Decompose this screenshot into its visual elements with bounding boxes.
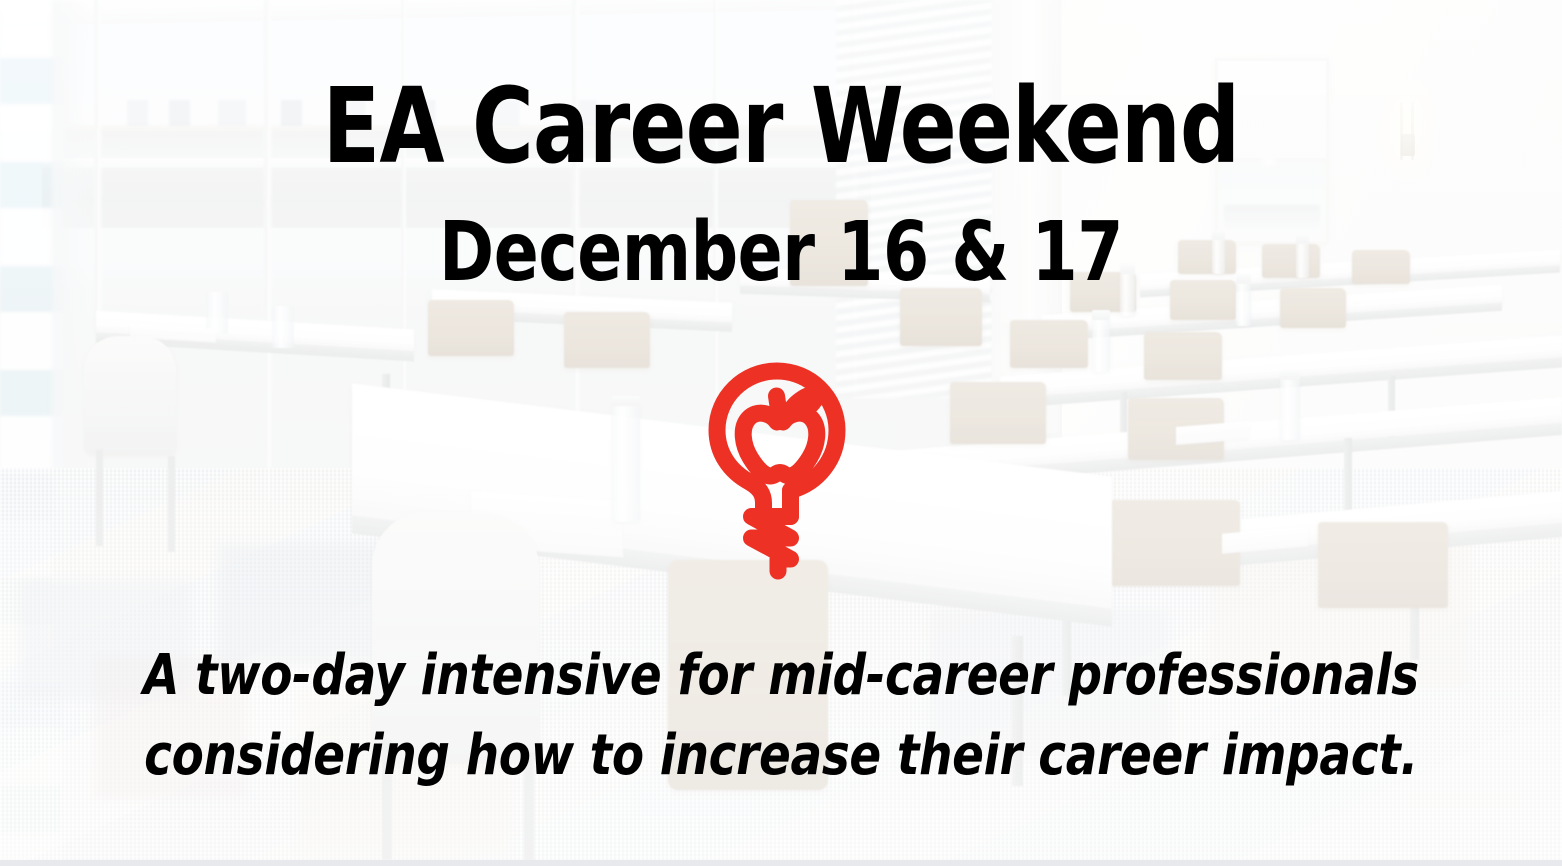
page-title: EA Career Weekend: [78, 74, 1484, 178]
event-dates: December 16 & 17: [78, 212, 1484, 294]
poster: EA Career Weekend December 16 & 17: [0, 0, 1562, 866]
tagline-line-2: considering how to increase their career…: [55, 716, 1508, 796]
poster-content: EA Career Weekend December 16 & 17: [0, 0, 1562, 866]
tagline: A two-day intensive for mid-career profe…: [55, 636, 1508, 795]
lightbulb-apple-icon: [690, 352, 872, 592]
tagline-line-1: A two-day intensive for mid-career profe…: [55, 636, 1508, 716]
